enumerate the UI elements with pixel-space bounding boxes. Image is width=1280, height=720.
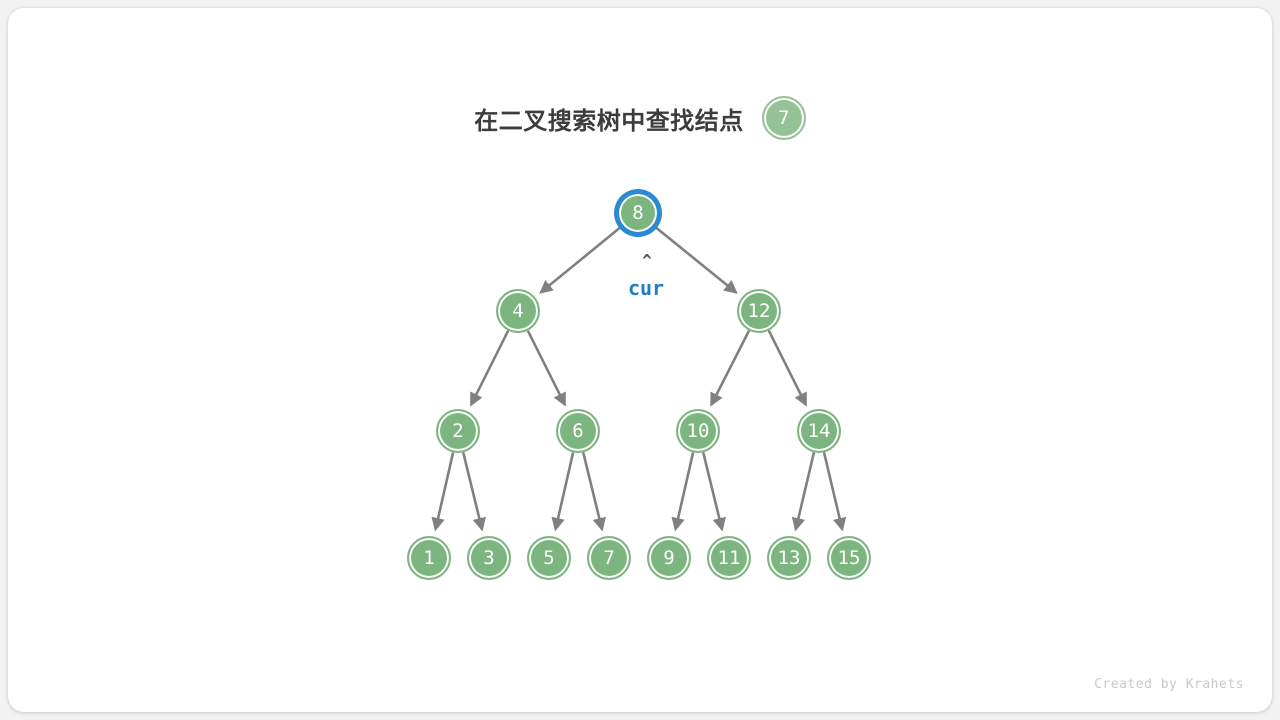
tree-node-9: 9 — [647, 536, 691, 580]
tree-node-4: 4 — [496, 289, 540, 333]
tree-node-2: 2 — [436, 409, 480, 453]
tree-edge — [528, 332, 564, 405]
tree-edge — [676, 453, 693, 528]
tree-node-11: 11 — [707, 536, 751, 580]
tree-edge — [703, 453, 721, 529]
tree-node-13: 13 — [767, 536, 811, 580]
tree-edge — [556, 453, 573, 528]
tree-edge — [796, 453, 814, 528]
tree-edge — [471, 332, 507, 405]
tree-node-3: 3 — [467, 536, 511, 580]
tree-edge — [463, 453, 481, 529]
tree-edge — [712, 332, 749, 405]
tree-node-5: 5 — [527, 536, 571, 580]
tree-edge — [583, 453, 601, 529]
page-background: 在二叉搜索树中查找结点 7 841226101413579111315 ^ cu… — [0, 0, 1280, 720]
diagram-card: 在二叉搜索树中查找结点 7 841226101413579111315 ^ cu… — [8, 8, 1272, 712]
tree-edge — [824, 453, 842, 528]
tree-node-10: 10 — [676, 409, 720, 453]
tree-node-1: 1 — [407, 536, 451, 580]
tree-edge — [436, 453, 453, 528]
tree-node-6: 6 — [556, 409, 600, 453]
tree-node-8: 8 — [616, 191, 660, 235]
tree-node-14: 14 — [797, 409, 841, 453]
tree-edge — [769, 332, 805, 405]
tree-node-12: 12 — [737, 289, 781, 333]
cur-pointer-caret: ^ — [636, 251, 658, 270]
tree-node-15: 15 — [827, 536, 871, 580]
cur-pointer-label: cur — [606, 276, 686, 300]
tree-edges — [8, 8, 1272, 712]
tree-node-7: 7 — [587, 536, 631, 580]
